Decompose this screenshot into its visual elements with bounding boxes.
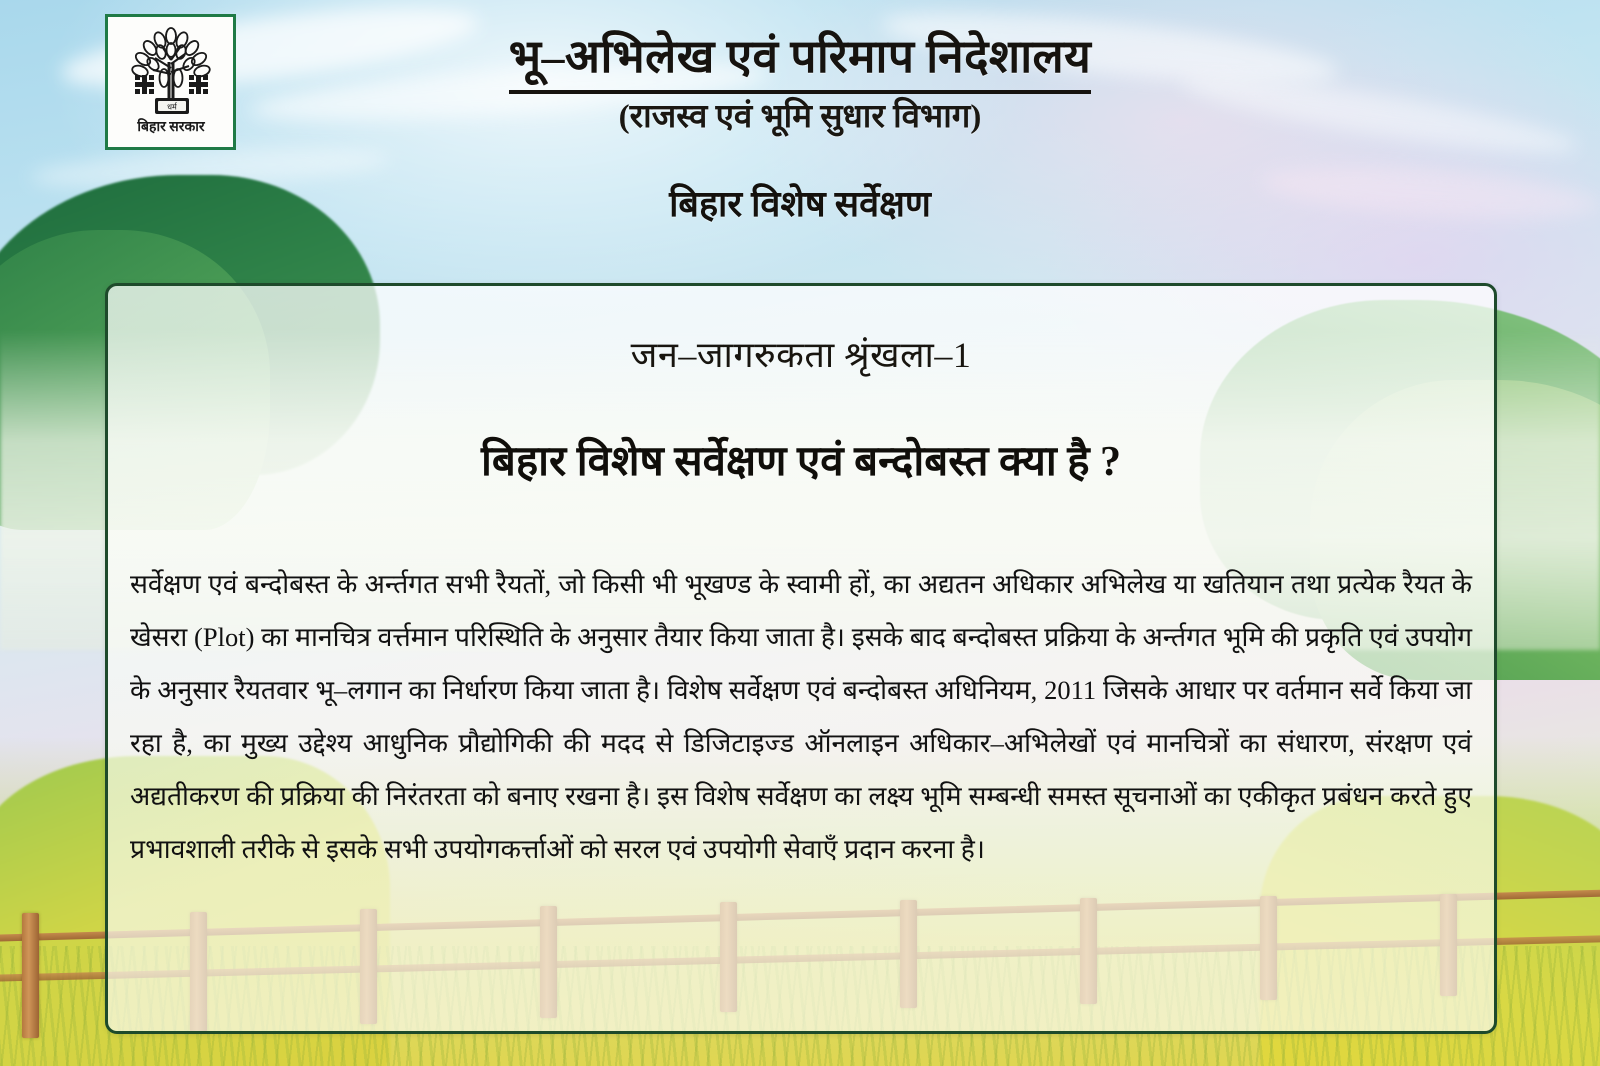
directorate-title: भू–अभिलेख एवं परिमाप निदेशालय bbox=[0, 24, 1600, 94]
series-title: जन–जागरुकता श्रृंखला–1 bbox=[108, 329, 1494, 378]
question-heading: बिहार विशेष सर्वेक्षण एवं बन्दोबस्त क्या… bbox=[108, 431, 1494, 488]
content-card-inner: जन–जागरुकता श्रृंखला–1 बिहार विशेष सर्वे… bbox=[108, 286, 1494, 1031]
directorate-title-text: भू–अभिलेख एवं परिमाप निदेशालय bbox=[509, 24, 1091, 94]
poster-canvas: धर्म बिहार सरकार भू–अभिलेख एवं परिमाप नि… bbox=[0, 0, 1600, 1066]
department-subtitle: (राजस्व एवं भूमि सुधार विभाग) bbox=[0, 92, 1600, 137]
body-paragraph: सर्वेक्षण एवं बन्दोबस्त के अर्न्तगत सभी … bbox=[130, 558, 1472, 876]
fence-post bbox=[22, 913, 39, 1038]
body-text: सर्वेक्षण एवं बन्दोबस्त के अर्न्तगत सभी … bbox=[130, 558, 1472, 876]
scheme-name: बिहार विशेष सर्वेक्षण bbox=[0, 178, 1600, 227]
content-card: जन–जागरुकता श्रृंखला–1 बिहार विशेष सर्वे… bbox=[105, 283, 1497, 1034]
poster-header: धर्म बिहार सरकार भू–अभिलेख एवं परिमाप नि… bbox=[0, 0, 1600, 260]
